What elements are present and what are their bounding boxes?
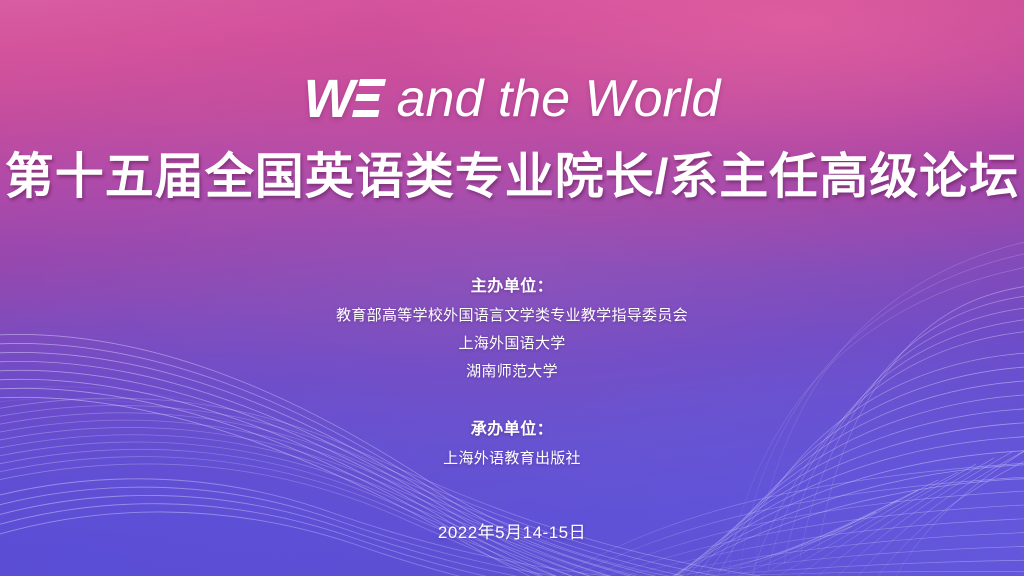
host-item-2: 湖南师范大学 (466, 364, 558, 379)
stylized-e-icon (352, 79, 387, 117)
conference-poster: W and the World 第十五届全国英语类专业院长/系主任高级论坛 主办… (0, 0, 1024, 576)
brand-title-rest: and the World (397, 73, 721, 125)
brand-title: W and the World (304, 68, 721, 130)
host-item-0: 教育部高等学校外国语言文学类专业教学指导委员会 (336, 308, 688, 323)
host-item-1: 上海外国语大学 (458, 336, 565, 351)
page-title: 第十五届全国英语类专业院长/系主任高级论坛 (5, 152, 1020, 203)
we-logo-w: W (304, 72, 354, 126)
event-date: 2022年5月14-15日 (438, 524, 586, 541)
poster-content: W and the World 第十五届全国英语类专业院长/系主任高级论坛 主办… (0, 0, 1024, 576)
undertaker-label: 承办单位： (471, 422, 554, 438)
we-logo: W (304, 72, 383, 126)
host-label: 主办单位： (471, 279, 554, 295)
organizers-block: 主办单位： 教育部高等学校外国语言文学类专业教学指导委员会 上海外国语大学 湖南… (336, 279, 688, 479)
undertaker-item-0: 上海外语教育出版社 (443, 451, 581, 466)
